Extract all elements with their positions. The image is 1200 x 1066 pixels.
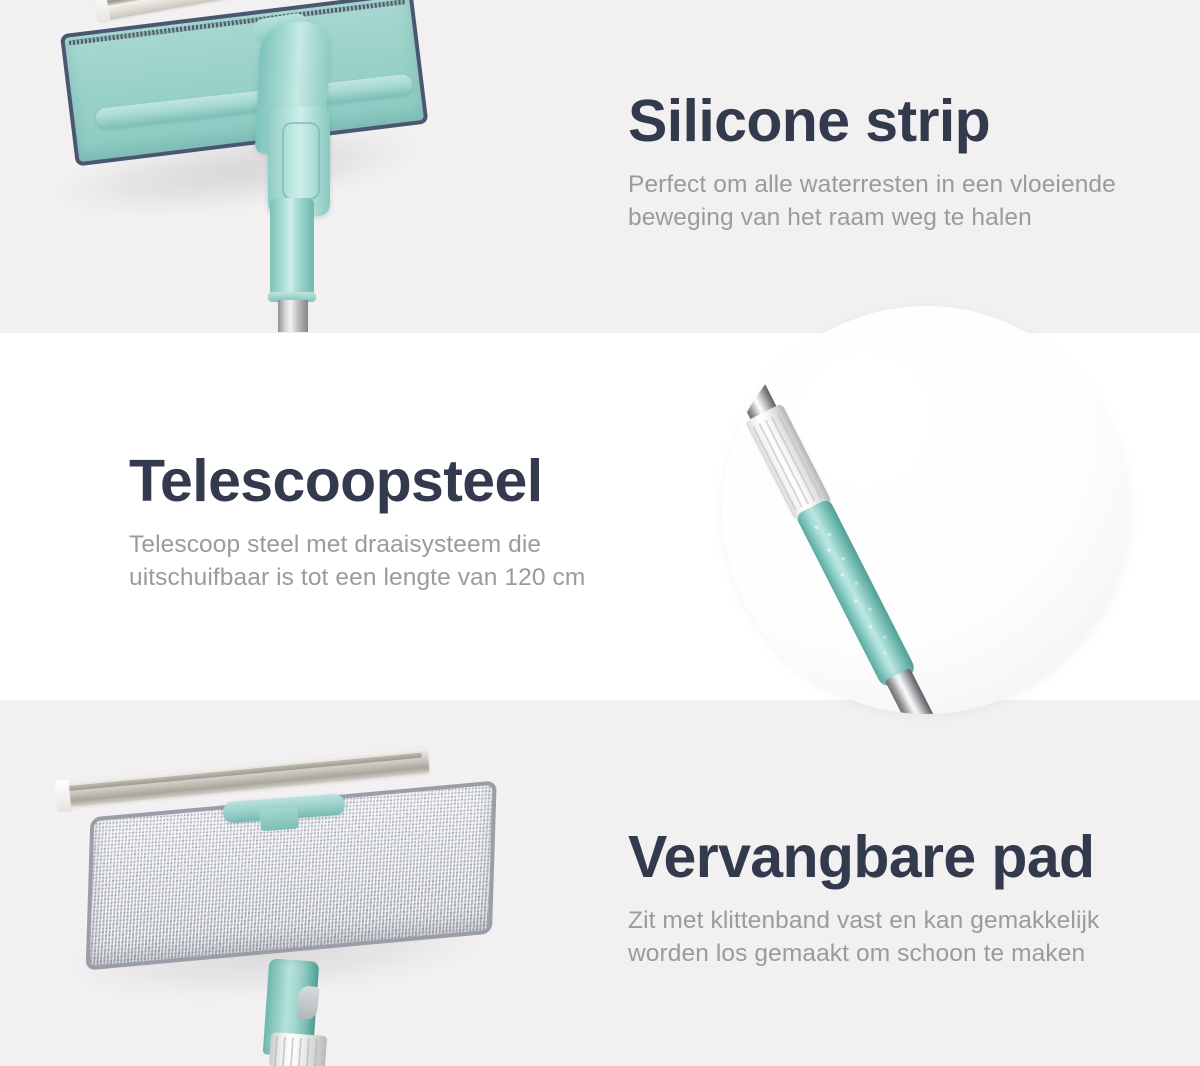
feature-body-telescoopsteel: Telescoop steel met draaisysteem die uit…: [129, 529, 585, 594]
feature-text-silicone-strip: Silicone strip Perfect om alle waterrest…: [628, 92, 1116, 234]
handle-notch: [296, 985, 319, 1021]
mint-pole-segment: [270, 198, 314, 302]
mint-rubber-grip: [795, 498, 918, 690]
feature-heading-vervangbare-pad: Vervangbare pad: [628, 828, 1099, 887]
replaceable-pad-image: [20, 752, 560, 1066]
circle-photo-mask: [722, 306, 1130, 714]
feature-text-telescoopsteel: Telescoopsteel Telescoop steel met draai…: [129, 452, 585, 594]
metal-pole-segment: [278, 300, 308, 332]
telescopic-rod: [722, 306, 941, 714]
squeegee-head-image: [0, 0, 560, 346]
blade-end-cap: [55, 779, 72, 812]
mint-clip-tab: [259, 807, 298, 832]
lower-metal-tube: [885, 668, 950, 714]
feature-body-silicone-strip: Perfect om alle waterresten in een vloei…: [628, 169, 1116, 234]
product-feature-infographic: Silicone strip Perfect om alle waterrest…: [0, 0, 1200, 1066]
feature-text-vervangbare-pad: Vervangbare pad Zit met klittenband vast…: [628, 828, 1099, 970]
telescoping-collar: [269, 1032, 327, 1066]
feature-heading-telescoopsteel: Telescoopsteel: [129, 452, 585, 511]
telescopic-pole-image: [722, 306, 1130, 714]
feature-heading-silicone-strip: Silicone strip: [628, 92, 1116, 151]
feature-body-vervangbare-pad: Zit met klittenband vast en kan gemakkel…: [628, 905, 1099, 970]
